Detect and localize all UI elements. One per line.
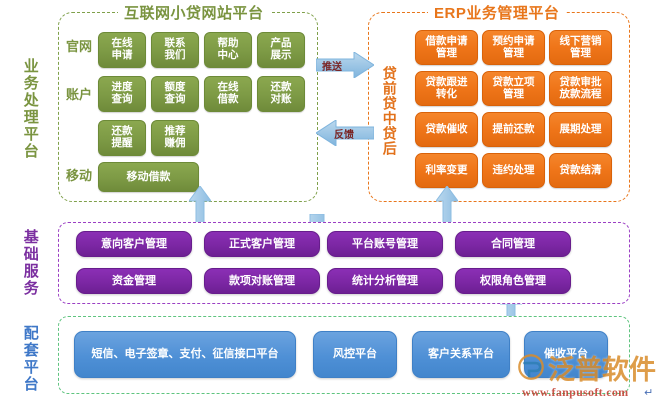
tier-label-business: 业务处理平台: [22, 30, 38, 188]
website-row-label-official: 官网: [66, 36, 92, 55]
erp-platform-title: ERP业务管理平台: [428, 2, 565, 23]
website-node-mobile-loan[interactable]: 移动借款: [98, 162, 199, 192]
erp-node-loan-approval-disbursement[interactable]: 贷款审批 放款流程: [549, 71, 612, 106]
erp-node-loan-collection[interactable]: 贷款催收: [415, 112, 478, 147]
erp-node-reservation-application-mgmt[interactable]: 预约申请 管理: [482, 30, 545, 65]
push-arrow-label: 推送: [322, 58, 342, 73]
foundation-node-prospect-customer-mgmt[interactable]: 意向客户管理: [76, 231, 192, 257]
foundation-node-formal-customer-mgmt[interactable]: 正式客户管理: [204, 231, 320, 257]
website-node-limit-query[interactable]: 额度 查询: [151, 76, 199, 112]
website-row-label-account: 账户: [66, 84, 92, 103]
erp-node-extension-processing[interactable]: 展期处理: [549, 112, 612, 147]
erp-node-loan-project-mgmt[interactable]: 贷款立项 管理: [482, 71, 545, 106]
feedback-arrow-label: 反馈: [334, 126, 354, 141]
diagram-canvas: 业务处理平台 基础服务 配套平台 互联网小贷网站平台 官网 账户 移动 在线 申…: [0, 0, 658, 403]
paragraph-mark: ↵: [644, 386, 653, 399]
erp-node-interest-rate-change[interactable]: 利率变更: [415, 153, 478, 188]
website-row-label-mobile: 移动: [66, 165, 92, 184]
website-node-repayment-reconcile[interactable]: 还款 对账: [257, 76, 305, 112]
erp-node-loan-application-mgmt[interactable]: 借款申请 管理: [415, 30, 478, 65]
erp-node-loan-settlement[interactable]: 贷款结清: [549, 153, 612, 188]
support-node-risk-control-platform[interactable]: 风控平台: [313, 331, 397, 378]
website-node-product-display[interactable]: 产品 展示: [257, 32, 305, 68]
erp-node-loan-followup-conversion[interactable]: 贷款跟进 转化: [415, 71, 478, 106]
foundation-node-permission-role-mgmt[interactable]: 权限角色管理: [455, 268, 571, 294]
website-platform-title: 互联网小贷网站平台: [118, 2, 270, 23]
tier-label-foundation: 基础服务: [22, 222, 38, 304]
foundation-node-platform-account-mgmt[interactable]: 平台账号管理: [327, 231, 443, 257]
foundation-node-fund-mgmt[interactable]: 资金管理: [76, 268, 192, 294]
website-node-contact-us[interactable]: 联系 我们: [151, 32, 199, 68]
erp-node-default-processing[interactable]: 违约处理: [482, 153, 545, 188]
erp-node-offline-marketing-mgmt[interactable]: 线下营销 管理: [549, 30, 612, 65]
website-node-progress-query[interactable]: 进度 查询: [98, 76, 146, 112]
foundation-node-statistics-analysis-mgmt[interactable]: 统计分析管理: [327, 268, 443, 294]
tier-label-support: 配套平台: [22, 318, 38, 400]
support-node-collection-platform[interactable]: 催收平台: [524, 331, 608, 378]
website-node-online-apply[interactable]: 在线 申请: [98, 32, 146, 68]
website-node-online-loan[interactable]: 在线 借款: [204, 76, 252, 112]
website-node-referral-commission[interactable]: 推荐 赚佣: [151, 120, 199, 156]
support-node-crm-platform[interactable]: 客户关系平台: [412, 331, 510, 378]
erp-node-early-repayment[interactable]: 提前还款: [482, 112, 545, 147]
support-node-sms-esign-payment-credit-interface[interactable]: 短信、电子签章、支付、征信接口平台: [74, 331, 296, 378]
foundation-node-contract-mgmt[interactable]: 合同管理: [455, 231, 571, 257]
foundation-node-payment-reconciliation-mgmt[interactable]: 款项对账管理: [204, 268, 320, 294]
erp-side-label: 贷前贷中贷后: [382, 28, 397, 193]
website-node-help-center[interactable]: 帮助 中心: [204, 32, 252, 68]
website-node-repayment-reminder[interactable]: 还款 提醒: [98, 120, 146, 156]
